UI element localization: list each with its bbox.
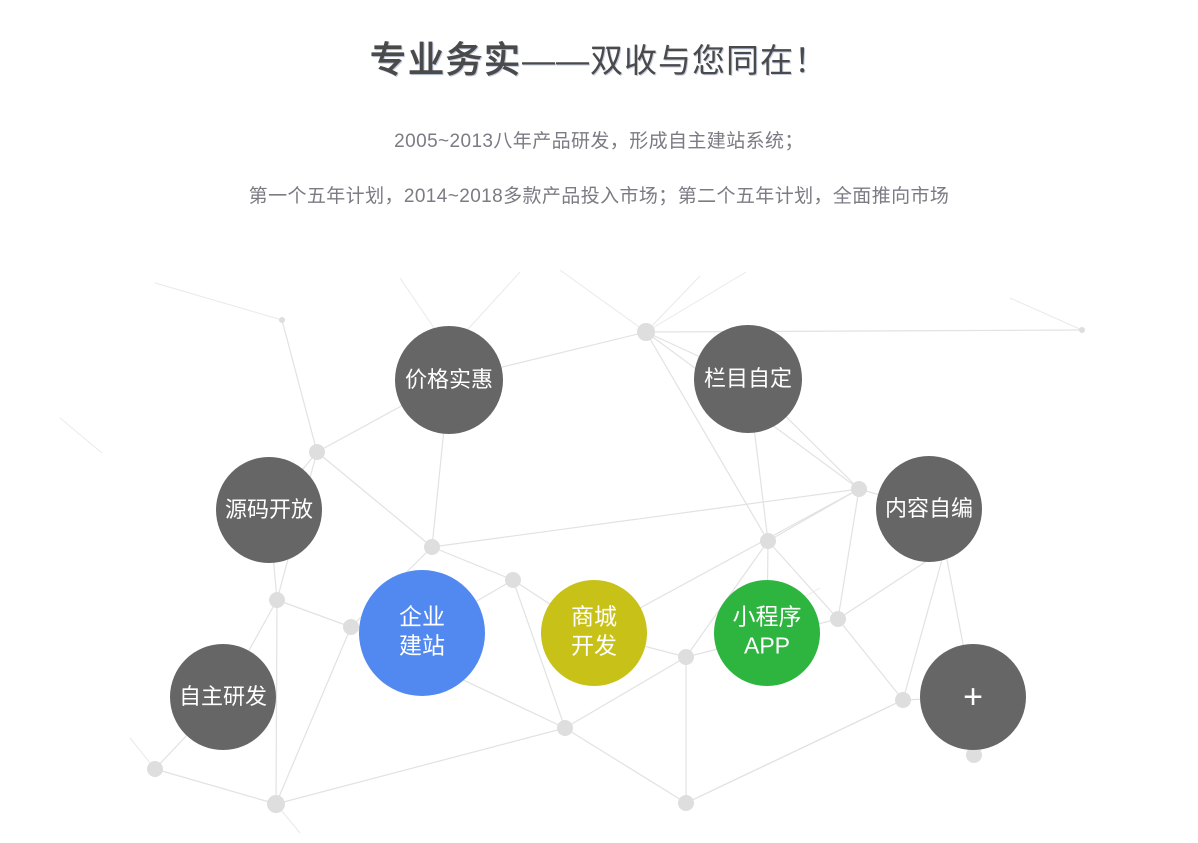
- graph-node-label-line: 商城: [571, 604, 617, 630]
- graph-dot: [637, 323, 655, 341]
- graph-edge: [686, 700, 903, 803]
- page-title: 专业务实——双收与您同在！: [0, 38, 1198, 82]
- graph-node-mall[interactable]: 商城开发: [541, 580, 647, 686]
- graph-node-label: 自主研发: [179, 684, 267, 709]
- graph-dot: [830, 611, 846, 627]
- graph-edge: [317, 452, 432, 547]
- graph-dot: [760, 533, 776, 549]
- graph-stray-line: [646, 272, 746, 332]
- promo-page: 专业务实——双收与您同在！ 2005~2013八年产品研发，形成自主建站系统； …: [0, 0, 1198, 843]
- graph-dot: [895, 692, 911, 708]
- graph-edge: [155, 769, 276, 804]
- graph-stray-line: [60, 418, 102, 453]
- graph-dot: [343, 619, 359, 635]
- graph-node-label-line: 建站: [399, 633, 445, 659]
- graph-edge: [276, 627, 351, 804]
- subtitle-line-1: 2005~2013八年产品研发，形成自主建站系统；: [0, 126, 1198, 153]
- graph-node-enterprise[interactable]: 企业建站: [359, 570, 485, 696]
- subtitle-line-2: 第一个五年计划，2014~2018多款产品投入市场；第二个五年计划，全面推向市场: [0, 181, 1198, 208]
- graph-node-label: 价格实惠: [405, 367, 493, 392]
- graph-node-plus[interactable]: +: [920, 644, 1026, 750]
- graph-node-content[interactable]: 内容自编: [876, 456, 982, 562]
- graph-node-selfdev[interactable]: 自主研发: [170, 644, 276, 750]
- graph-dot: [678, 795, 694, 811]
- graph-edge: [565, 728, 686, 803]
- graph-stray-line: [1010, 298, 1082, 330]
- graph-dot: [267, 795, 285, 813]
- graph-dot: [505, 572, 521, 588]
- graph-edge: [277, 600, 351, 627]
- graph-edge: [432, 489, 859, 547]
- graph-edge: [276, 600, 277, 804]
- node-layer: 价格实惠栏目自定源码开放内容自编自主研发+企业建站商城开发小程序APP: [170, 325, 1026, 750]
- graph-node-label: 内容自编: [885, 496, 973, 521]
- graph-node-label-line: 企业: [399, 604, 445, 630]
- graph-node-label-line: 小程序: [733, 604, 802, 630]
- graph-node-price[interactable]: 价格实惠: [395, 326, 503, 434]
- graph-dot: [1079, 327, 1085, 333]
- graph-node-source[interactable]: 源码开放: [216, 457, 322, 563]
- graph-dot: [557, 720, 573, 736]
- graph-edge: [838, 489, 859, 619]
- graph-dot: [309, 444, 325, 460]
- graph-dot: [147, 761, 163, 777]
- network-graph: 价格实惠栏目自定源码开放内容自编自主研发+企业建站商城开发小程序APP: [0, 258, 1198, 843]
- graph-edge: [838, 619, 903, 700]
- graph-dot: [678, 649, 694, 665]
- graph-dot: [279, 317, 285, 323]
- graph-node-label-line: APP: [744, 633, 790, 659]
- network-graph-svg: 价格实惠栏目自定源码开放内容自编自主研发+企业建站商城开发小程序APP: [0, 258, 1198, 843]
- graph-node-label-line: 开发: [571, 633, 617, 659]
- graph-node-label: 栏目自定: [704, 366, 792, 391]
- graph-stray-line: [560, 270, 646, 332]
- page-title-rest: ——双收与您同在！: [522, 42, 828, 79]
- graph-stray-line: [155, 283, 282, 320]
- page-title-strong: 专业务实: [370, 39, 522, 80]
- graph-node-label: +: [963, 678, 983, 716]
- graph-edge: [282, 320, 317, 452]
- graph-node-label: 源码开放: [225, 497, 313, 522]
- graph-dot: [269, 592, 285, 608]
- graph-node-miniapp[interactable]: 小程序APP: [714, 580, 820, 686]
- graph-dot: [851, 481, 867, 497]
- graph-dot: [424, 539, 440, 555]
- graph-node-column[interactable]: 栏目自定: [694, 325, 802, 433]
- graph-edge: [276, 728, 565, 804]
- page-header: 专业务实——双收与您同在！ 2005~2013八年产品研发，形成自主建站系统； …: [0, 0, 1198, 208]
- graph-edge: [646, 330, 1082, 332]
